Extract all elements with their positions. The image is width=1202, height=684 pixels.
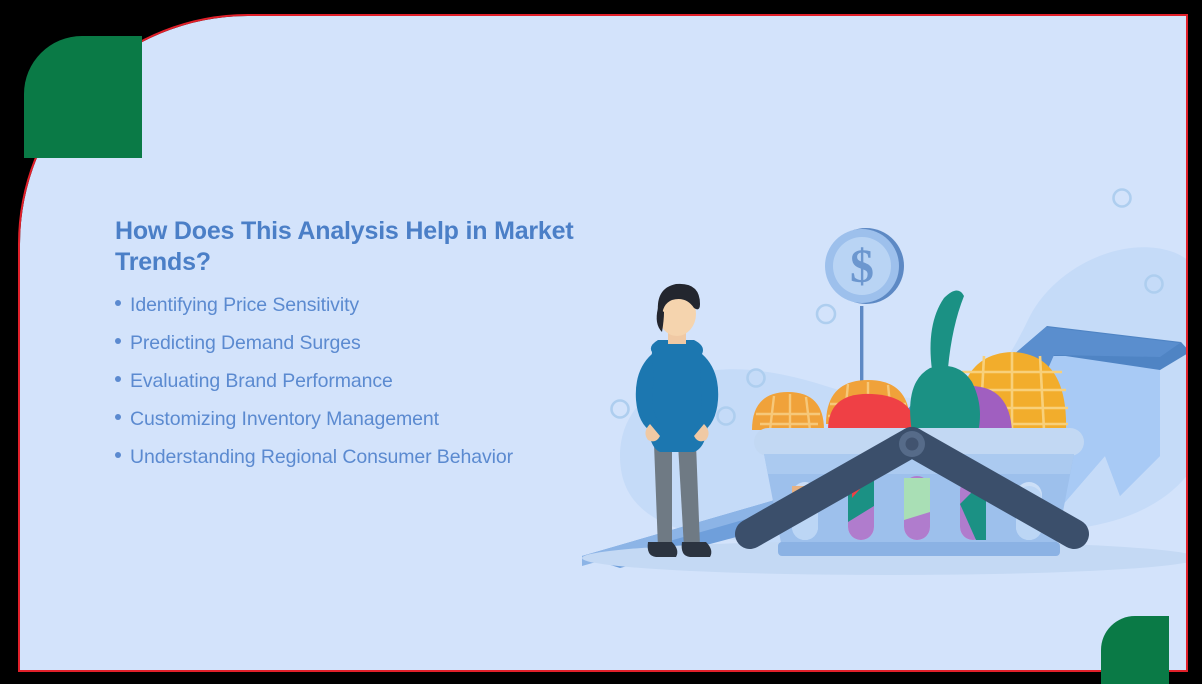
bullet-dot-icon: [115, 376, 121, 382]
shopping-basket-icon: [750, 428, 1084, 556]
list-item-label: Predicting Demand Surges: [130, 334, 361, 354]
benefits-list: Identifying Price Sensitivity Predicting…: [115, 296, 635, 468]
bullet-dot-icon: [115, 414, 121, 420]
list-item: Identifying Price Sensitivity: [115, 296, 635, 316]
bullet-dot-icon: [115, 338, 121, 344]
page-title: How Does This Analysis Help in Market Tr…: [115, 216, 610, 278]
bullet-dot-icon: [115, 300, 121, 306]
produce-pile: [752, 290, 1068, 432]
slide-frame: $: [0, 0, 1202, 684]
bullet-dot-icon: [115, 452, 121, 458]
content-panel: $: [20, 16, 1186, 670]
dollar-coin-icon: $: [825, 228, 904, 304]
list-item: Predicting Demand Surges: [115, 334, 635, 354]
list-item-label: Identifying Price Sensitivity: [130, 296, 359, 316]
list-item: Evaluating Brand Performance: [115, 372, 635, 392]
list-item-label: Evaluating Brand Performance: [130, 372, 393, 392]
coin-dollar-symbol: $: [850, 240, 874, 293]
green-corner-block-bottom-right: [1101, 616, 1169, 684]
list-item: Customizing Inventory Management: [115, 410, 635, 430]
text-column: How Does This Analysis Help in Market Tr…: [115, 216, 635, 486]
green-corner-block-top-left: [24, 36, 142, 158]
list-item: Understanding Regional Consumer Behavior: [115, 448, 635, 468]
market-trends-illustration: $: [560, 156, 1186, 596]
list-item-label: Customizing Inventory Management: [130, 410, 439, 430]
list-item-label: Understanding Regional Consumer Behavior: [130, 448, 513, 468]
leafy-green-teal: [910, 290, 980, 432]
